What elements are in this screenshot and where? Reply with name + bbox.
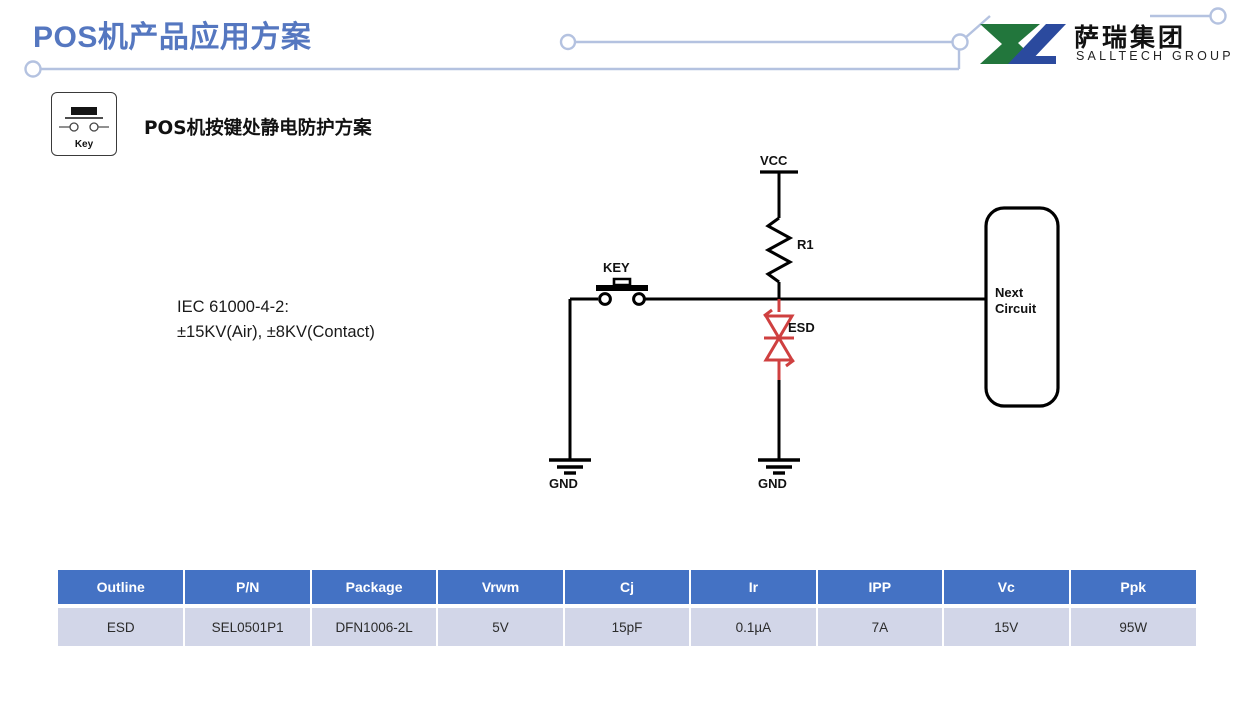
iec-spec-text: IEC 61000-4-2: ±15KV(Air), ±8KV(Contact) [177,295,375,345]
cell-ppk: 95W [1070,608,1197,646]
cell-vc: 15V [943,608,1069,646]
circuit-schematic-svg [520,140,1120,510]
key-badge: Key [51,92,117,156]
section-subtitle: POS机按键处静电防护方案 [144,114,372,140]
next-circuit-block-label: Next Circuit [995,285,1036,317]
column-header-cj: Cj [564,570,690,604]
column-header-ir: Ir [690,570,816,604]
column-header-ipp: IPP [817,570,943,604]
cell-ipp: 7A [817,608,943,646]
table-row: ESD SEL0501P1 DFN1006-2L 5V 15pF 0.1µA 7… [58,608,1196,646]
column-header-package: Package [311,570,437,604]
cell-ir: 0.1µA [690,608,816,646]
column-header-vrwm: Vrwm [437,570,563,604]
push-button-switch-icon [53,99,113,139]
circuit-label-r1: R1 [797,237,814,252]
cell-outline: ESD [58,608,184,646]
brand-logo: 萨瑞集团 SALLTECH GROUP [978,18,1208,73]
next-circuit-line1: Next [995,285,1036,301]
next-circuit-line2: Circuit [995,301,1036,317]
circuit-diagram: VCC R1 KEY ESD GND GND Next Circuit [520,140,1120,510]
column-header-outline: Outline [58,570,184,604]
table-header-row: Outline P/N Package Vrwm Cj Ir IPP Vc Pp… [58,570,1196,604]
circuit-label-key: KEY [603,260,630,275]
cell-package: DFN1006-2L [311,608,437,646]
circuit-label-esd: ESD [788,320,815,335]
logo-name-en: SALLTECH GROUP [1076,49,1234,63]
iec-spec-line2: ±15KV(Air), ±8KV(Contact) [177,320,375,345]
column-header-vc: Vc [943,570,1069,604]
column-header-pn: P/N [184,570,310,604]
iec-spec-line1: IEC 61000-4-2: [177,295,375,320]
page-title: POS机产品应用方案 [33,12,311,56]
circuit-label-gnd-right: GND [758,476,787,491]
circuit-label-gnd-left: GND [549,476,578,491]
key-badge-label: Key [52,139,116,150]
circuit-label-vcc: VCC [760,153,787,168]
cell-cj: 15pF [564,608,690,646]
cell-pn: SEL0501P1 [184,608,310,646]
salltech-logo-mark-icon [978,22,1068,66]
parameter-table: Outline P/N Package Vrwm Cj Ir IPP Vc Pp… [58,570,1196,646]
cell-vrwm: 5V [437,608,563,646]
column-header-ppk: Ppk [1070,570,1197,604]
